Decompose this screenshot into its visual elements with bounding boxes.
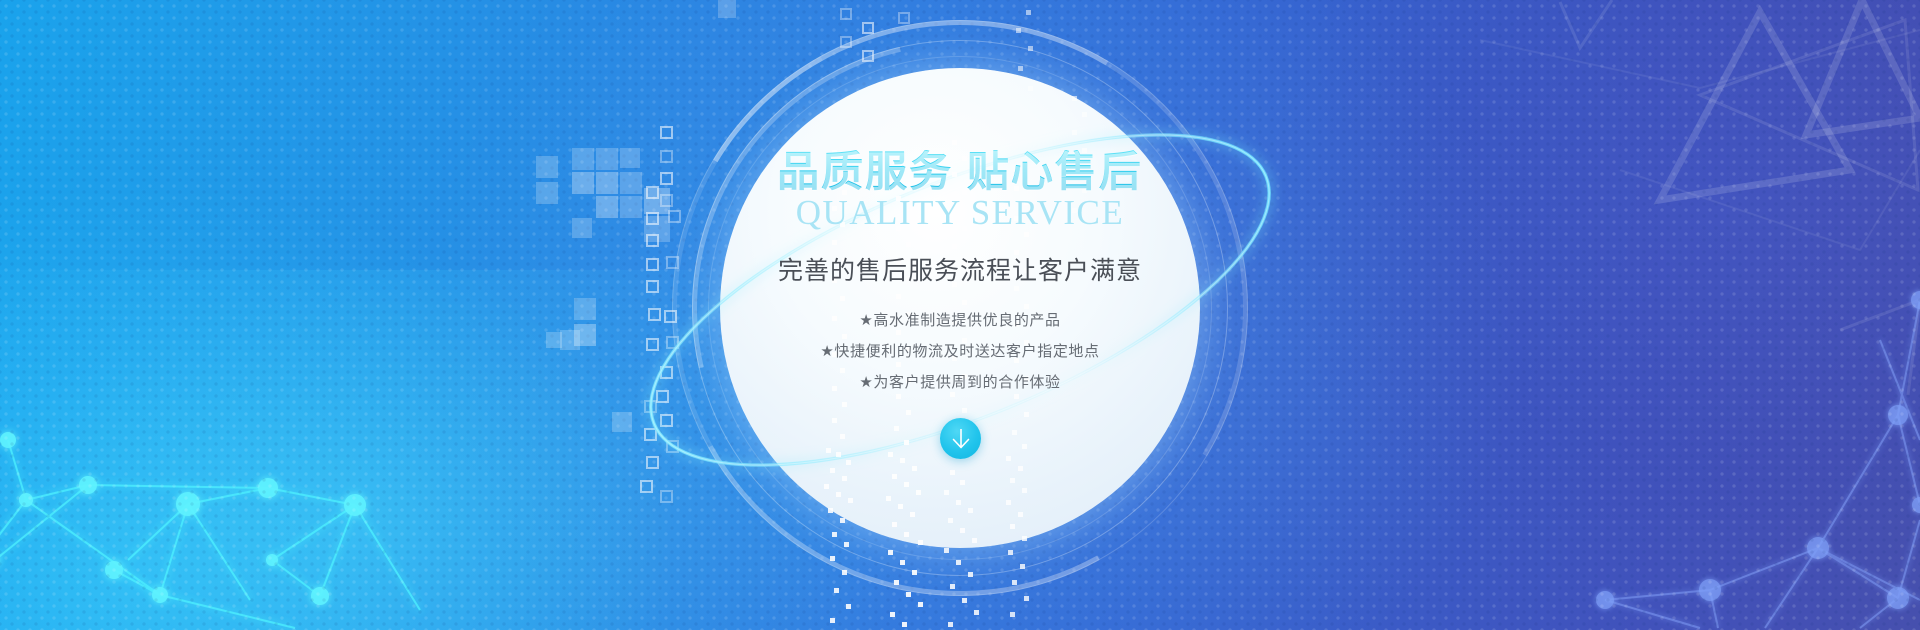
down-arrow-icon	[950, 427, 972, 451]
hero-copy: 品质服务 贴心售后 QUALITY SERVICE 完善的售后服务流程让客户满意…	[720, 68, 1200, 548]
feature-list: ★高水准制造提供优良的产品 ★快捷便利的物流及时送达客户指定地点 ★为客户提供周…	[820, 309, 1099, 392]
page-title: 品质服务 贴心售后	[777, 150, 1143, 195]
promo-banner: 品质服务 贴心售后 QUALITY SERVICE 完善的售后服务流程让客户满意…	[0, 0, 1920, 630]
page-subtitle-en: QUALITY SERVICE	[796, 193, 1125, 233]
scroll-down-button[interactable]	[940, 418, 981, 459]
tagline: 完善的售后服务流程让客户满意	[778, 251, 1142, 287]
feature-list-item: ★为客户提供周到的合作体验	[859, 371, 1060, 392]
feature-list-item: ★高水准制造提供优良的产品	[859, 309, 1060, 330]
feature-list-item: ★快捷便利的物流及时送达客户指定地点	[820, 340, 1099, 361]
